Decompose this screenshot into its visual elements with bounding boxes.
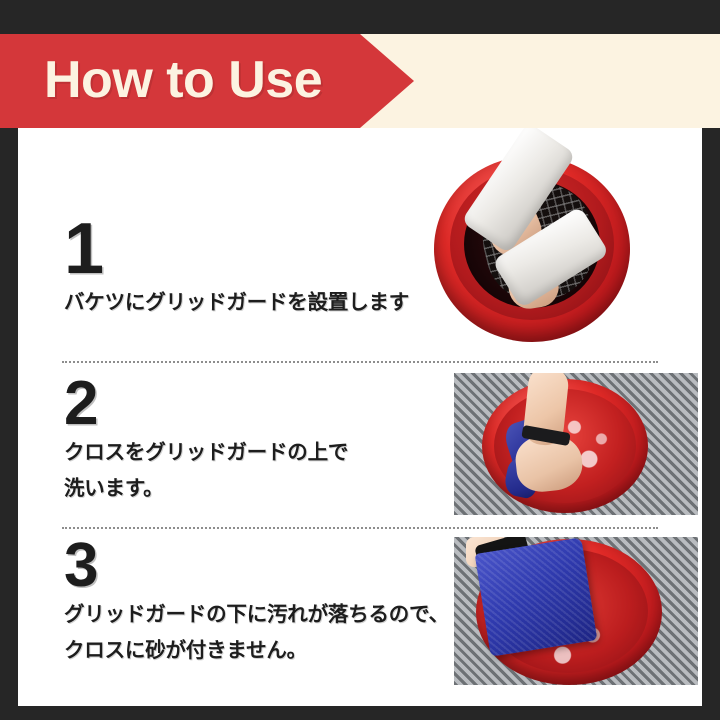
step-1: 1 バケツにグリッドガードを設置します (18, 128, 702, 361)
step-2-caption-line-1: クロスをグリッドガードの上で (64, 438, 348, 468)
step-1-text: 1 バケツにグリッドガードを設置します (64, 216, 409, 318)
step-3-caption-line-1: グリッドガードの下に汚れが落ちるので、 (64, 600, 449, 630)
step-1-number: 1 (64, 216, 409, 282)
content-panel: 1 バケツにグリッドガードを設置します 2 クロスをグリッドガードの上で (18, 128, 702, 706)
step-3: 3 グリッドガードの下に汚れが落ちるので、 クロスに砂が付きません。 (18, 527, 702, 706)
step-3-caption-line-2: クロスに砂が付きません。 (64, 636, 449, 666)
photo-step-3 (454, 537, 698, 685)
step-3-text: 3 グリッドガードの下に汚れが落ちるので、 クロスに砂が付きません。 (64, 537, 449, 665)
step-3-number: 3 (64, 537, 449, 594)
step-2-number: 2 (64, 375, 348, 432)
step-2-text: 2 クロスをグリッドガードの上で 洗います。 (64, 375, 348, 503)
step-divider-2 (62, 527, 658, 529)
step-2: 2 クロスをグリッドガードの上で 洗います。 (18, 361, 702, 527)
step-divider-1 (62, 361, 658, 363)
photo-step-2 (454, 373, 698, 515)
blue-microfiber-cloth-shape (475, 537, 598, 657)
step-1-caption-line-1: バケツにグリッドガードを設置します (64, 288, 409, 318)
how-to-use-infographic: How to Use 1 バケツにグリッドガードを設置します (0, 0, 720, 720)
page-title: How to Use (44, 34, 322, 128)
photo-step-1 (420, 128, 702, 344)
step-2-caption-line-2: 洗います。 (64, 474, 348, 504)
